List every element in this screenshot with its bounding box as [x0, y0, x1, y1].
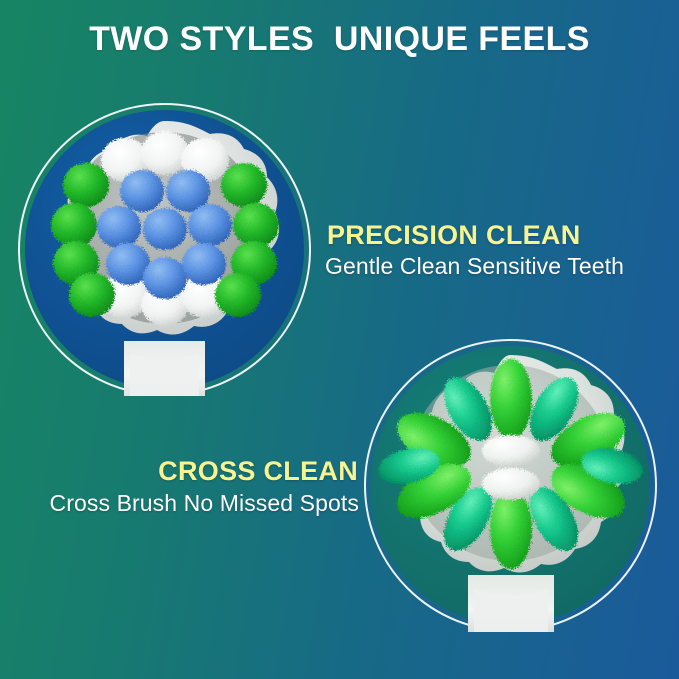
- cross-clean-brush-head: [364, 339, 657, 632]
- precision-clean-heading: PRECISION CLEAN: [327, 220, 581, 251]
- cross-clean-heading: CROSS CLEAN: [0, 456, 358, 487]
- cross-clean-disc: [364, 339, 657, 632]
- precision-clean-disc: [18, 103, 311, 396]
- product-feature-image: TWO STYLES UNIQUE FEELS: [0, 0, 679, 679]
- precision-clean-subheading: Gentle Clean Sensitive Teeth: [325, 253, 624, 280]
- precision-clean-brush-head: [18, 103, 311, 396]
- page-title: TWO STYLES UNIQUE FEELS: [0, 20, 679, 59]
- cross-clean-subheading: Cross Brush No Missed Spots: [0, 490, 359, 517]
